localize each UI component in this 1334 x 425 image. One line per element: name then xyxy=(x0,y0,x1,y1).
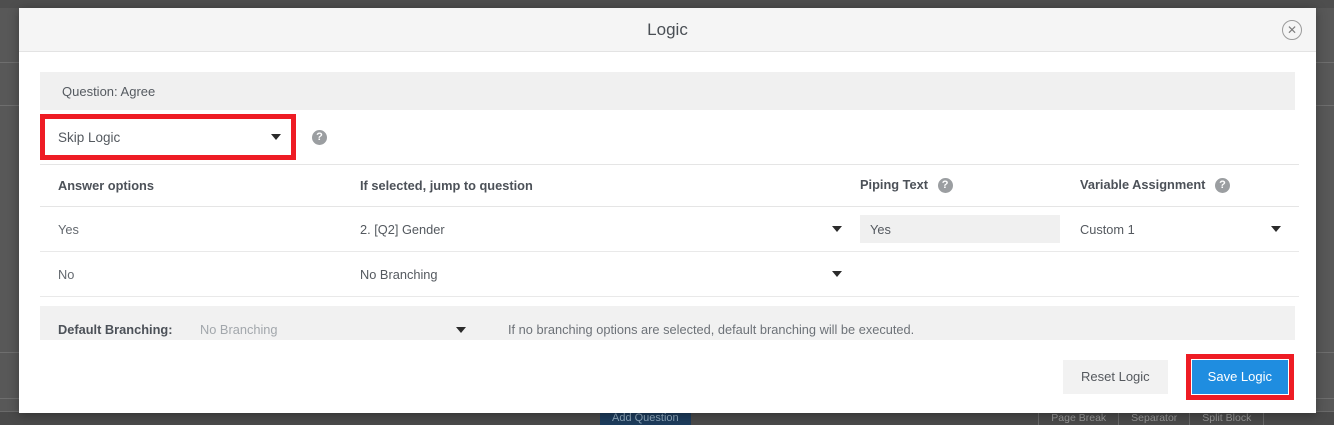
background-tool-group: Page Break Separator Split Block xyxy=(1038,411,1300,425)
cell-piping-text xyxy=(860,252,1080,297)
cell-answer-option: Yes xyxy=(40,207,360,252)
logic-type-value: Skip Logic xyxy=(58,130,120,145)
backdrop-topbar xyxy=(0,0,1334,8)
table-header-row: Answer options If selected, jump to ques… xyxy=(40,165,1299,207)
modal-body: Question: Agree Skip Logic ? Answer opti… xyxy=(19,52,1316,353)
cell-variable-assignment xyxy=(1080,252,1299,297)
logic-type-select[interactable]: Skip Logic xyxy=(45,119,291,155)
header-piping-text: Piping Text ? xyxy=(860,165,1080,207)
cell-jump-to-question: 2. [Q2] Gender xyxy=(360,207,860,252)
logic-table-body: Yes 2. [Q2] Gender Custom 1 xyxy=(40,207,1299,297)
chevron-down-icon xyxy=(271,134,281,140)
modal-footer: Reset Logic Save Logic xyxy=(19,340,1316,413)
header-label: Piping Text xyxy=(860,177,928,192)
logic-table-head: Answer options If selected, jump to ques… xyxy=(40,165,1299,207)
header-label: If selected, jump to question xyxy=(360,178,533,193)
help-circle-icon[interactable]: ? xyxy=(1215,178,1230,193)
jump-to-question-select[interactable]: 2. [Q2] Gender xyxy=(360,222,860,237)
header-answer-options: Answer options xyxy=(40,165,360,207)
question-strip: Question: Agree xyxy=(40,72,1295,110)
help-circle-icon[interactable]: ? xyxy=(938,178,953,193)
chevron-down-icon xyxy=(832,271,842,277)
default-branching-value: No Branching xyxy=(200,322,278,337)
cell-jump-to-question: No Branching xyxy=(360,252,860,297)
help-circle-icon[interactable]: ? xyxy=(312,130,327,145)
cell-piping-text xyxy=(860,207,1080,252)
answer-option-label: No xyxy=(58,267,74,282)
cell-variable-assignment: Custom 1 xyxy=(1080,207,1299,252)
piping-text-input[interactable] xyxy=(860,215,1060,243)
header-label: Variable Assignment xyxy=(1080,177,1205,192)
variable-assignment-select[interactable]: Custom 1 xyxy=(1080,222,1299,237)
header-label: Answer options xyxy=(58,178,154,193)
reset-logic-button[interactable]: Reset Logic xyxy=(1063,360,1168,394)
chevron-down-icon xyxy=(1271,226,1281,232)
jump-to-question-value: 2. [Q2] Gender xyxy=(360,222,445,237)
page-title: Logic xyxy=(647,20,688,40)
logic-table: Answer options If selected, jump to ques… xyxy=(40,164,1299,297)
page-break-tool[interactable]: Page Break xyxy=(1038,411,1118,425)
default-branching-label: Default Branching: xyxy=(58,322,200,337)
chevron-down-icon xyxy=(832,226,842,232)
default-branching-hint: If no branching options are selected, de… xyxy=(508,322,914,337)
jump-to-question-value: No Branching xyxy=(360,267,438,282)
cell-answer-option: No xyxy=(40,252,360,297)
header-jump-to-question: If selected, jump to question xyxy=(360,165,860,207)
logic-type-highlight: Skip Logic xyxy=(40,114,296,160)
logic-type-row: Skip Logic ? xyxy=(40,110,1295,164)
close-icon[interactable]: ✕ xyxy=(1282,20,1302,40)
jump-to-question-select[interactable]: No Branching xyxy=(360,267,860,282)
toolbar-spacer xyxy=(1263,411,1300,425)
logic-modal: Logic ✕ Question: Agree Skip Logic ? Ans… xyxy=(19,8,1316,413)
background-toolbar: Add Question Page Break Separator Split … xyxy=(0,411,1334,425)
header-variable-assignment: Variable Assignment ? xyxy=(1080,165,1299,207)
table-row: No No Branching xyxy=(40,252,1299,297)
default-branching-select[interactable]: No Branching xyxy=(200,322,480,337)
chevron-down-icon xyxy=(456,327,466,333)
answer-option-label: Yes xyxy=(58,222,79,237)
separator-tool[interactable]: Separator xyxy=(1118,411,1189,425)
save-logic-button[interactable]: Save Logic xyxy=(1192,360,1288,394)
split-block-tool[interactable]: Split Block xyxy=(1189,411,1263,425)
question-label: Question: Agree xyxy=(62,84,155,99)
modal-header: Logic ✕ xyxy=(19,8,1316,52)
variable-assignment-value: Custom 1 xyxy=(1080,222,1135,237)
add-question-button[interactable]: Add Question xyxy=(600,411,691,425)
table-row: Yes 2. [Q2] Gender Custom 1 xyxy=(40,207,1299,252)
save-logic-highlight: Save Logic xyxy=(1186,354,1294,400)
